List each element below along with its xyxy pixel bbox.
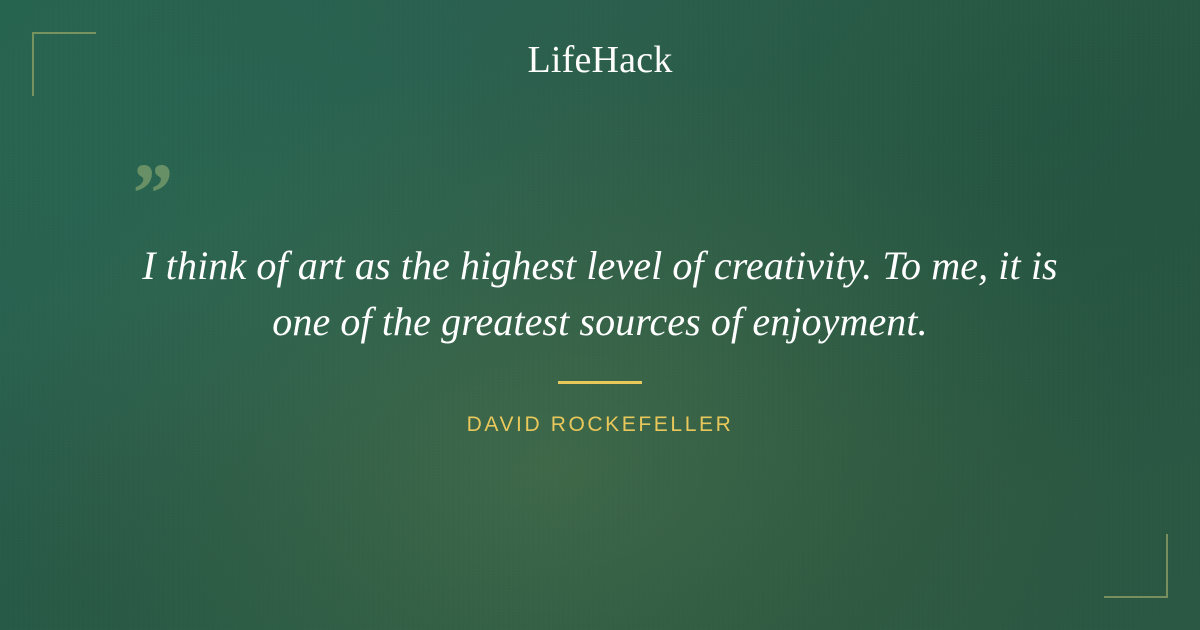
quote-line-1: I think of art as the highest level of c… xyxy=(100,238,1100,294)
quote-block: I think of art as the highest level of c… xyxy=(100,238,1100,350)
corner-bracket-bottom-right-icon xyxy=(1104,534,1168,598)
quote-card: LifeHack ” I think of art as the highest… xyxy=(0,0,1200,630)
brand-logo: LifeHack xyxy=(0,38,1200,82)
quote-author: DAVID ROCKEFELLER xyxy=(0,412,1200,438)
quote-line-2: one of the greatest sources of enjoyment… xyxy=(100,294,1100,350)
quotation-mark-icon: ” xyxy=(128,150,171,236)
attribution-divider xyxy=(558,381,642,384)
